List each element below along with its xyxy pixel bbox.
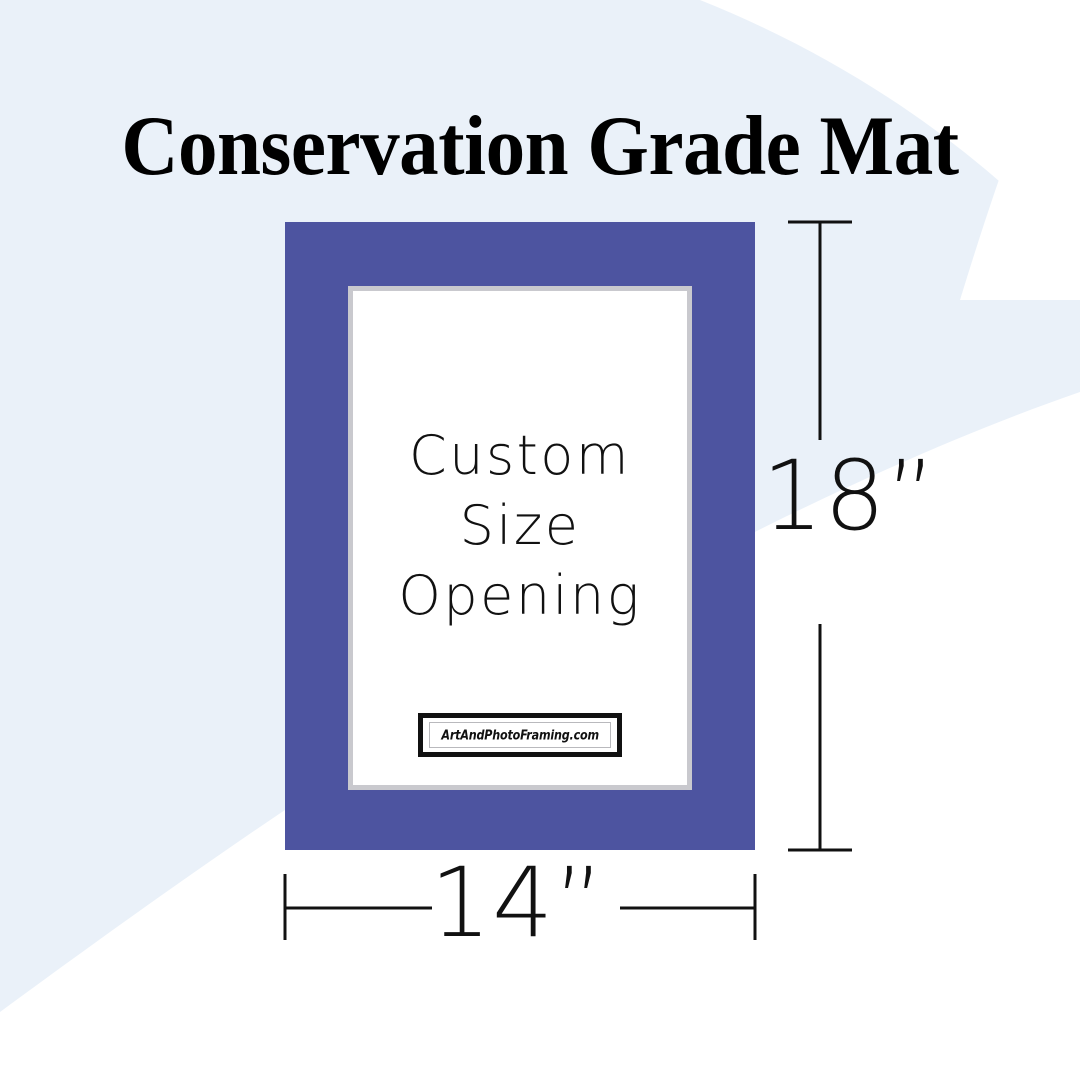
mat-board: Custom Size Opening ArtAndPhotoFraming.c… <box>285 222 755 850</box>
brand-logo-text: ArtAndPhotoFraming.com <box>441 727 598 744</box>
opening-label-line-3: Opening <box>353 561 687 631</box>
page-title: Conservation Grade Mat <box>38 104 1042 189</box>
opening-label-line-2: Size <box>353 491 687 561</box>
opening-label: Custom Size Opening <box>353 421 687 632</box>
brand-logo-plaque: ArtAndPhotoFraming.com <box>418 713 622 757</box>
mat-bevel-edge: Custom Size Opening ArtAndPhotoFraming.c… <box>348 286 692 790</box>
mat-product-diagram: Conservation Grade Mat Custom Size Openi… <box>0 0 1080 1080</box>
brand-logo-inner-frame: ArtAndPhotoFraming.com <box>429 722 611 748</box>
mat-opening: Custom Size Opening ArtAndPhotoFraming.c… <box>353 291 687 785</box>
opening-label-line-1: Custom <box>353 421 687 491</box>
dimension-height-label: 18” <box>762 448 972 544</box>
dimension-width-label: 14” <box>430 855 640 951</box>
